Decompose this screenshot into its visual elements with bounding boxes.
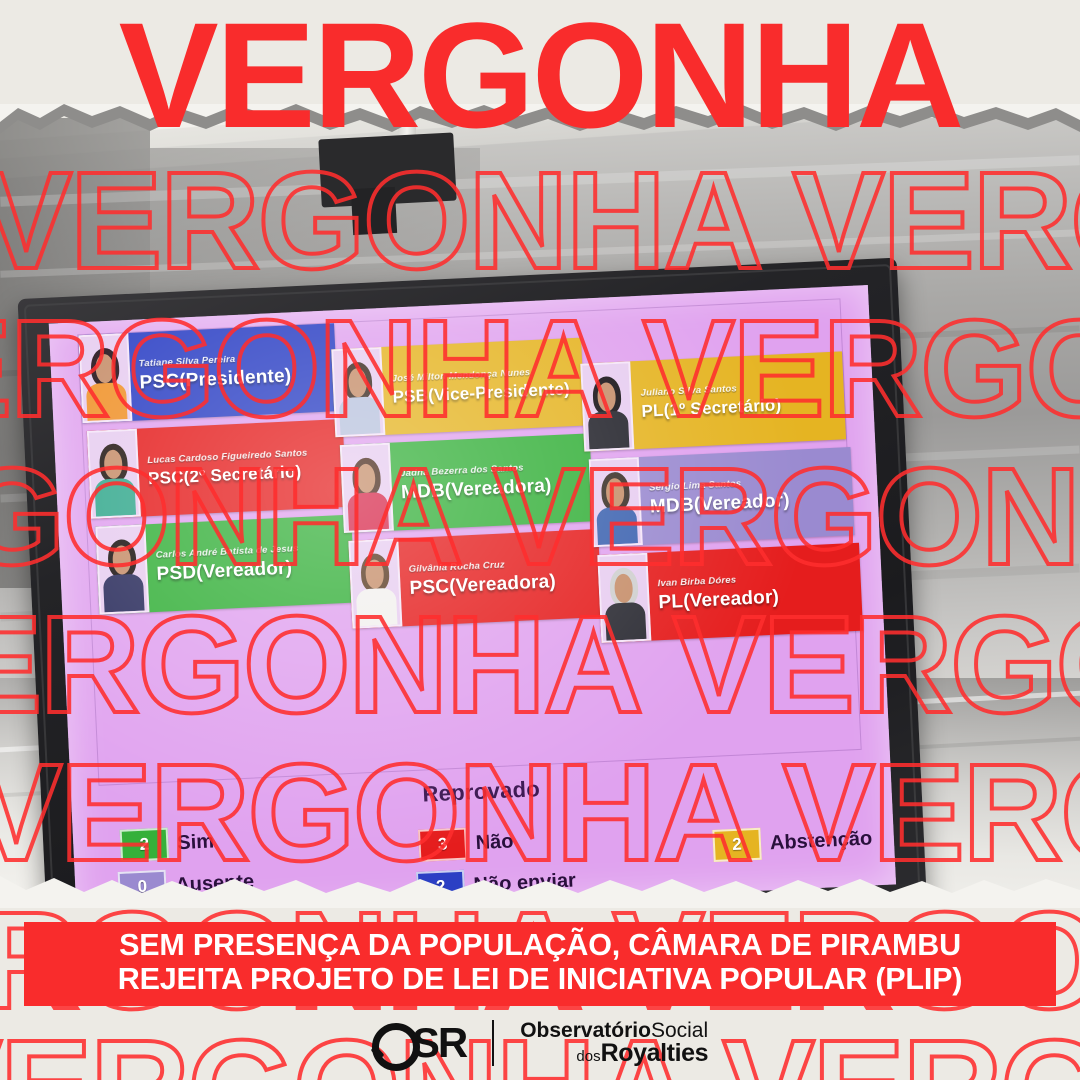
vote-panel: Tatiane Silva PereiraPSC(Presidente)Luca… (77, 298, 861, 785)
vote-member-cell: Gilvânia Rocha CruzPSC(Vereadora) (348, 529, 602, 629)
member-info: Ivan Birba DóresPL(Vereador) (647, 543, 863, 641)
member-info: Sergio Lima SantosMDB(Vereador) (639, 447, 855, 545)
monitor-screen: Tatiane Silva PereiraPSC(Presidente)Luca… (49, 285, 896, 908)
member-photo (78, 333, 132, 423)
vote-grid: Tatiane Silva PereiraPSC(Presidente)Luca… (78, 299, 853, 625)
member-photo (348, 538, 402, 628)
legend-label: Não (475, 830, 514, 855)
logo-divider (492, 1020, 494, 1066)
member-info: Juliano Silva SantosPL(1º Secretário) (630, 351, 846, 449)
magnifier-icon (372, 1021, 412, 1065)
tv-mount-arm (351, 187, 397, 235)
member-photo (580, 361, 634, 451)
tv-monitor: Philco Tatiane Silva PereiraPSC(Presiden… (18, 258, 931, 908)
legend-count-chip: 3 (418, 828, 467, 862)
legend-item: 2Sim (120, 825, 215, 861)
member-photo (589, 457, 643, 547)
room-photo: Philco Tatiane Silva PereiraPSC(Presiden… (0, 118, 1080, 908)
vote-member-cell: Jadna Bezerra dos SantosMDB(Vereadora) (340, 433, 594, 533)
member-photo (87, 429, 141, 519)
logo-wordmark: ObservatórioSocial dosRoyalties (520, 1020, 708, 1067)
vote-member-cell: Juliano Silva SantosPL(1º Secretário) (580, 351, 846, 451)
legend-item: 3Não (418, 825, 514, 861)
brand-logo: SR ObservatórioSocial dosRoyalties (0, 1012, 1080, 1074)
vote-member-cell: Tatiane Silva PereiraPSC(Presidente) (78, 323, 338, 423)
member-party-role: PSD(Vereador) (156, 555, 348, 586)
member-info: Jadna Bezerra dos SantosMDB(Vereadora) (390, 433, 594, 530)
member-info: Tatiane Silva PereiraPSC(Presidente) (128, 323, 338, 421)
osr-mark: SR (372, 1021, 466, 1065)
member-party-role: MDB(Vereadora) (401, 474, 587, 505)
poster-canvas: Philco Tatiane Silva PereiraPSC(Presiden… (0, 0, 1080, 1080)
legend-count-chip: 2 (712, 828, 761, 862)
member-photo (331, 347, 385, 437)
legend-count-chip: 2 (120, 828, 169, 862)
logo-line-1: ObservatórioSocial (520, 1020, 708, 1041)
member-info: José Milton Mendonça NunesPSB(Vice-Presi… (381, 338, 585, 435)
logo-royalties: Royalties (601, 1039, 709, 1067)
page-title: VERGONHA (0, 8, 1080, 143)
member-info: Lucas Cardoso Figueiredo SantosPSC(2º Se… (137, 419, 347, 517)
member-party-role: PSC(Presidente) (139, 363, 331, 394)
vote-member-cell: Ivan Birba DóresPL(Vereador) (597, 543, 863, 643)
member-info: Gilvânia Rocha CruzPSC(Vereadora) (398, 529, 602, 626)
member-photo (95, 524, 149, 614)
logo-dos: dos (576, 1048, 600, 1065)
logo-line-2: dosRoyalties (520, 1041, 708, 1067)
osr-mark-letters: SR (412, 1022, 466, 1064)
caption-banner: SEM PRESENÇA DA POPULAÇÃO, CÂMARA DE PIR… (24, 922, 1056, 1006)
vote-member-cell: José Milton Mendonça NunesPSB(Vice-Presi… (331, 338, 585, 438)
member-photo (597, 553, 651, 643)
member-party-role: PSC(Vereadora) (409, 569, 595, 600)
member-photo (340, 443, 394, 533)
legend-item: 2Abstenção (712, 822, 873, 861)
member-info: Carlos André Batista de JesusPSD(Vereado… (145, 515, 355, 613)
vote-member-cell: Lucas Cardoso Figueiredo SantosPSC(2º Se… (87, 419, 347, 519)
caption-line-1: SEM PRESENÇA DA POPULAÇÃO, CÂMARA DE PIR… (24, 928, 1056, 962)
legend-label: Sim (177, 830, 215, 855)
caption-line-2: REJEITA PROJETO DE LEI DE INICIATIVA POP… (24, 962, 1056, 996)
vote-member-cell: Sergio Lima SantosMDB(Vereador) (589, 447, 855, 547)
legend-label: Abstenção (769, 827, 872, 855)
torn-paper-edge-bottom (0, 862, 1080, 908)
vote-member-cell: Carlos André Batista de JesusPSD(Vereado… (95, 515, 355, 615)
